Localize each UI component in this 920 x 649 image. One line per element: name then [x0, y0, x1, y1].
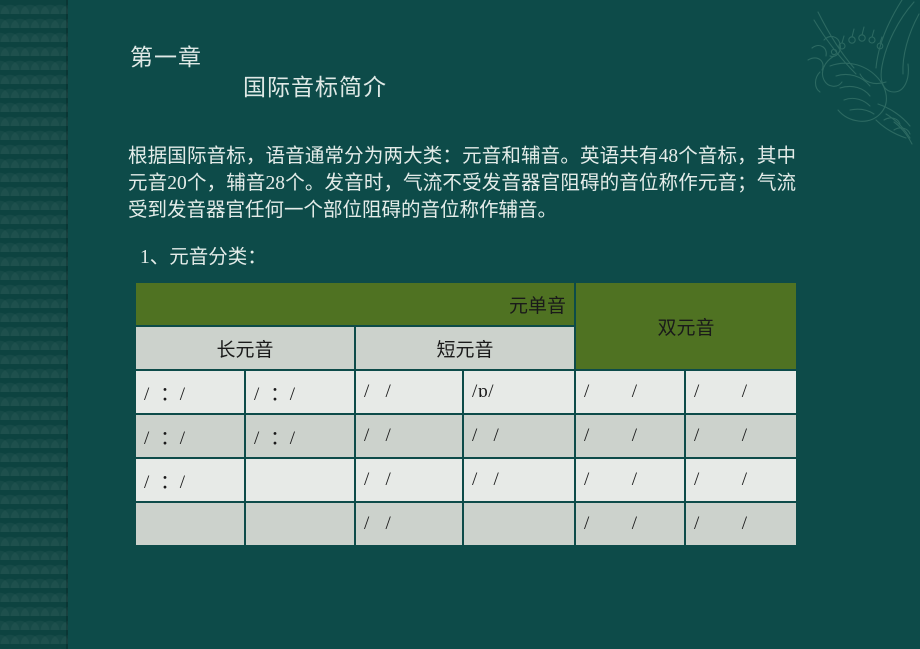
table-cell: / / — [356, 371, 462, 413]
table-cell: / ：/ — [246, 371, 354, 413]
intro-paragraph: 根据国际音标，语音通常分为两大类：元音和辅音。英语共有48个音标，其中元音20个… — [128, 143, 796, 224]
table-cell — [246, 459, 354, 501]
table-cell: /ɒ/ — [464, 371, 574, 413]
left-decorative-band — [0, 0, 68, 649]
table-cell — [136, 503, 244, 545]
table-cell: / / — [576, 503, 684, 545]
chapter-label: 第一章 — [130, 38, 202, 72]
table-cell: / / — [686, 503, 796, 545]
table-cell: / / — [576, 415, 684, 457]
table-cell: / / — [356, 415, 462, 457]
header-monophthong: 元单音 — [136, 283, 574, 325]
table-cell: / / — [356, 459, 462, 501]
table-cell: / / — [686, 459, 796, 501]
table-cell: / / — [686, 371, 796, 413]
table-row: / ：/ / ：/ / / /ɒ/ / / / / — [136, 371, 796, 413]
page-title: 国际音标简介 — [243, 68, 387, 102]
table-header-row-1: 元单音 双元音 — [136, 283, 796, 325]
left-band-edge — [66, 0, 68, 649]
peacock-ornament-icon — [790, 0, 920, 145]
table-cell: / / — [464, 459, 574, 501]
header-long-vowel: 长元音 — [136, 327, 354, 369]
table-cell: / ：/ — [246, 415, 354, 457]
table-cell: / / — [686, 415, 796, 457]
table-cell: / / — [464, 415, 574, 457]
slide-canvas: 第一章 国际音标简介 根据国际音标，语音通常分为两大类：元音和辅音。英语共有48… — [0, 0, 920, 649]
table-cell — [246, 503, 354, 545]
header-diphthong: 双元音 — [576, 283, 796, 369]
table-row: / ：/ / / / / / / / / — [136, 459, 796, 501]
table-row: / / / / / / — [136, 503, 796, 545]
table-cell: / ：/ — [136, 371, 244, 413]
table-cell: / ：/ — [136, 415, 244, 457]
table-row: / ：/ / ：/ / / / / / / / / — [136, 415, 796, 457]
table-cell: / / — [576, 371, 684, 413]
table-cell: / / — [576, 459, 684, 501]
table-cell — [464, 503, 574, 545]
section-label: 1、元音分类： — [140, 240, 267, 269]
header-short-vowel: 短元音 — [356, 327, 574, 369]
vowel-classification-table: 元单音 双元音 长元音 短元音 / ：/ / ：/ / / /ɒ/ / / / … — [134, 281, 798, 547]
table-cell: / / — [356, 503, 462, 545]
table-cell: / ：/ — [136, 459, 244, 501]
